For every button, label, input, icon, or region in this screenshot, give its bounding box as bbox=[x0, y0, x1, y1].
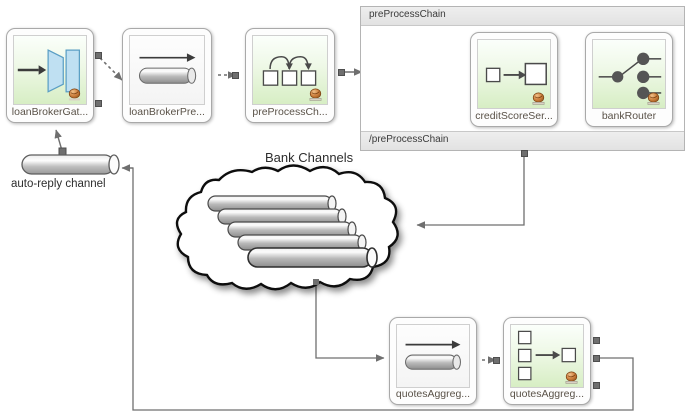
channel-icon bbox=[397, 325, 469, 387]
node-caption: quotesAggreg... bbox=[504, 388, 590, 400]
bank-router[interactable]: bankRouter bbox=[585, 32, 673, 127]
channel-icon bbox=[130, 36, 204, 104]
cloud-pipe bbox=[248, 248, 377, 267]
cloud-pipe-group bbox=[208, 196, 377, 267]
node-caption: loanBrokerGat... bbox=[7, 106, 93, 118]
cloud-pipe bbox=[228, 222, 356, 237]
node-caption: quotesAggreg... bbox=[390, 388, 476, 400]
node-caption: preProcessCh... bbox=[246, 106, 334, 118]
bean-badge-icon bbox=[531, 91, 546, 106]
group-footer-bar: /preProcessChain bbox=[361, 131, 684, 150]
node-caption: creditScoreSer... bbox=[471, 110, 557, 122]
group-header-bar: preProcessChain bbox=[361, 7, 684, 26]
loan-broker-pre-channel[interactable]: loanBrokerPre... bbox=[122, 28, 212, 123]
group-footer-label: /preProcessChain bbox=[369, 134, 448, 145]
preprocess-chain-node[interactable]: preProcessCh... bbox=[245, 28, 335, 123]
aggregator-port-bottom[interactable] bbox=[593, 382, 600, 389]
node-icon-area bbox=[396, 324, 470, 388]
aggregator-port-mid[interactable] bbox=[593, 355, 600, 362]
prechannel-port-right[interactable] bbox=[232, 72, 239, 79]
quotes-channel-port-right[interactable] bbox=[493, 357, 500, 364]
gateway-port-top[interactable] bbox=[95, 52, 102, 59]
node-icon-area bbox=[510, 324, 584, 388]
connector-group-to-cloud bbox=[417, 156, 524, 225]
connector-cloud-to-quotes-channel bbox=[316, 282, 384, 358]
bean-badge-icon bbox=[67, 87, 82, 102]
node-caption: loanBrokerPre... bbox=[123, 106, 211, 118]
bean-badge-icon bbox=[308, 87, 323, 102]
bank-channels-label: Bank Channels bbox=[265, 150, 353, 165]
connector-auto-reply-to-gateway bbox=[56, 130, 66, 155]
node-icon-area bbox=[129, 35, 205, 105]
node-caption: bankRouter bbox=[586, 110, 672, 122]
quotes-aggregator-channel[interactable]: quotesAggreg... bbox=[389, 317, 477, 405]
cloud-pipe bbox=[218, 209, 346, 224]
bean-badge-icon bbox=[564, 370, 579, 385]
bank-channels-cloud[interactable] bbox=[177, 166, 398, 290]
loan-broker-gateway[interactable]: loanBrokerGat... bbox=[6, 28, 94, 123]
group-output-port[interactable] bbox=[521, 150, 528, 157]
gateway-port-bottom[interactable] bbox=[95, 100, 102, 107]
node-icon-area bbox=[592, 39, 666, 109]
cloud-pipe bbox=[238, 235, 366, 250]
node-icon-area bbox=[13, 35, 87, 105]
chain-port-right[interactable] bbox=[338, 69, 345, 76]
node-icon-area bbox=[252, 35, 328, 105]
auto-reply-channel-pipe[interactable] bbox=[22, 155, 119, 174]
aggregator-port-top[interactable] bbox=[593, 337, 600, 344]
auto-reply-channel-label: auto-reply channel bbox=[11, 178, 106, 190]
cloud-pipe bbox=[208, 196, 336, 211]
quotes-aggregator[interactable]: quotesAggreg... bbox=[503, 317, 591, 405]
cloud-output-port[interactable] bbox=[313, 279, 319, 285]
bean-badge-icon bbox=[646, 91, 661, 106]
credit-score-service[interactable]: creditScoreSer... bbox=[470, 32, 558, 127]
diagram-canvas[interactable]: preProcessChain /preProcessChain loanBro… bbox=[0, 0, 688, 419]
connector-gateway-to-prechannel bbox=[100, 58, 122, 80]
group-header-label: preProcessChain bbox=[369, 9, 446, 20]
node-icon-area bbox=[477, 39, 551, 109]
